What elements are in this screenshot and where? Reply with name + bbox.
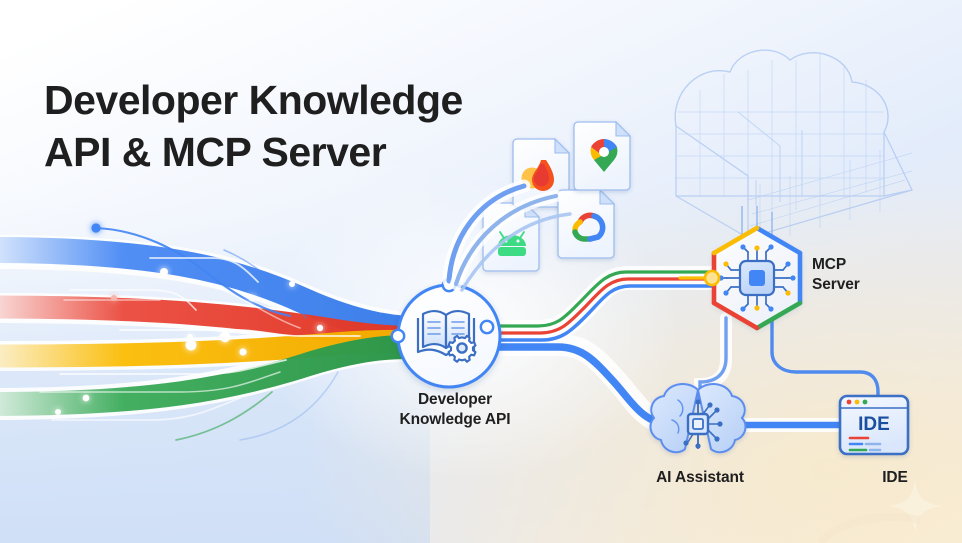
node-ai-assistant[interactable] xyxy=(650,384,745,452)
mcp-port-left[interactable] xyxy=(705,271,719,285)
node-ide[interactable]: IDE xyxy=(840,396,908,454)
title-line-2: API & MCP Server xyxy=(44,126,463,178)
label-ai-assistant: AI Assistant xyxy=(605,468,795,488)
node-port-right[interactable] xyxy=(481,321,493,333)
api-to-docs-links xyxy=(449,186,570,290)
page-title: Developer Knowledge API & MCP Server xyxy=(44,74,463,179)
label-developer-knowledge-api: Developer Knowledge API xyxy=(330,390,580,431)
node-port-left[interactable] xyxy=(392,330,404,342)
connector-mcp-to-ide xyxy=(772,320,878,398)
corner-arc-decor xyxy=(820,517,920,543)
label-mcp-server: MCP Server xyxy=(812,255,942,296)
window-dot-red xyxy=(847,400,852,405)
window-dot-green xyxy=(863,400,868,405)
ide-window-text: IDE xyxy=(858,414,890,435)
title-line-1: Developer Knowledge xyxy=(44,74,463,126)
node-mcp-server[interactable] xyxy=(705,228,800,328)
node-developer-knowledge-api[interactable] xyxy=(392,279,500,387)
window-dot-yellow xyxy=(855,400,860,405)
cloud-document[interactable] xyxy=(558,190,614,258)
label-ide: IDE xyxy=(820,468,962,488)
infographic-canvas: IDE Developer Knowledge API & MCP Server… xyxy=(0,0,962,543)
maps-document[interactable] xyxy=(574,122,630,190)
wireframe-cloud-icon xyxy=(675,50,912,244)
